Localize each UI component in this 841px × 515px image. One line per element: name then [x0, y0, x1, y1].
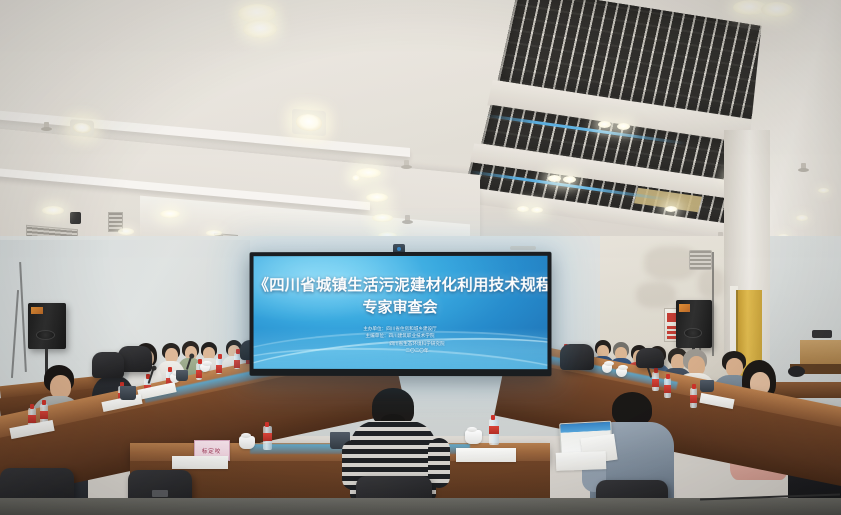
bottle-label — [690, 395, 697, 403]
wall-stain — [698, 268, 724, 298]
cabinet-cable-coil — [788, 366, 805, 377]
arm-right — [428, 438, 450, 488]
hair — [612, 392, 652, 426]
sprinkler-icon — [801, 163, 806, 171]
water-bottle[interactable] — [652, 372, 659, 391]
slide-subtitle: 专家审查会 — [254, 296, 548, 317]
screen-mount — [510, 246, 536, 250]
chair-left-row[interactable] — [92, 352, 124, 378]
ceiling-downlight — [617, 123, 630, 130]
wall-cable — [712, 252, 714, 356]
sprinkler-icon — [405, 215, 410, 223]
ceiling-downlight — [352, 175, 360, 181]
bottle-label — [652, 379, 659, 387]
bottle-label — [40, 411, 48, 419]
slide-credits: 主办单位：四川省住房和城乡建设厅 主编单位：四川建筑职业技术学院 四川省生态环境… — [254, 325, 548, 354]
loudspeaker-right — [676, 300, 712, 348]
bottle-label — [196, 370, 202, 378]
ceiling-downlight — [372, 214, 393, 222]
water-bottle[interactable] — [263, 426, 272, 450]
desk-organizer — [120, 386, 136, 400]
ceiling-light — [243, 20, 277, 38]
conference-room-photo: 标定咬 《四川省城镇生活 — [0, 0, 841, 515]
ceiling-downlight — [665, 206, 677, 212]
chair-tag — [152, 490, 168, 497]
speaker-badge-icon — [31, 307, 43, 314]
bottle-label — [234, 360, 240, 368]
bottle-label — [489, 426, 499, 434]
loudspeaker-left — [28, 303, 66, 349]
ceiling-light — [761, 2, 793, 17]
bottle-label — [28, 415, 36, 423]
ceiling-downlight — [818, 188, 829, 193]
ceiling-downlight — [366, 193, 388, 202]
ceiling-downlight — [531, 207, 543, 213]
ceiling-projector — [70, 212, 81, 224]
ceiling-downlight — [42, 206, 64, 215]
document-paper[interactable] — [456, 448, 516, 462]
speaker-cone-icon — [684, 328, 702, 339]
slide-credit-line: 主办单位：四川省住房和城乡建设厅 — [254, 325, 548, 332]
water-bottle[interactable] — [690, 388, 697, 408]
wall-air-vent-icon — [689, 250, 712, 270]
ceiling-downlight — [598, 121, 611, 128]
slide-credit-line: 二〇二〇年 — [254, 347, 548, 355]
ceiling-downlight — [517, 206, 529, 212]
bottle-label — [216, 365, 222, 373]
ceiling-downlight — [118, 228, 134, 235]
projection-screen: 《四川省城镇生活污泥建材化利用技术规程》 专家审查会 主办单位：四川省住房和城乡… — [250, 252, 552, 376]
document-stack[interactable] — [556, 451, 607, 471]
floor — [0, 498, 841, 515]
tea-cup[interactable] — [465, 430, 482, 444]
cabinet-equipment — [812, 330, 832, 338]
ceiling-downlight — [160, 210, 180, 218]
document-paper[interactable] — [172, 456, 228, 469]
ceiling-downlight — [796, 215, 808, 221]
sprinkler-icon — [44, 122, 49, 130]
bottle-label — [664, 385, 671, 393]
water-bottle[interactable] — [216, 358, 222, 374]
desk-organizer — [176, 370, 188, 381]
name-card-text: 标定咬 — [202, 446, 221, 454]
desk-organizer — [700, 380, 714, 392]
projection-screen-content: 《四川省城镇生活污泥建材化利用技术规程》 专家审查会 主办单位：四川省住房和城乡… — [254, 256, 548, 369]
wall-stain — [636, 282, 676, 308]
speaker-cone-icon — [36, 330, 55, 340]
tea-cup[interactable] — [239, 436, 255, 449]
chair-right-row[interactable] — [636, 348, 664, 368]
sprinkler-icon — [404, 160, 409, 168]
ceiling-light-square — [292, 109, 326, 136]
chair-right-row[interactable] — [560, 344, 594, 370]
bottle-label — [263, 433, 272, 441]
ceiling-light-square — [70, 119, 94, 137]
water-bottle[interactable] — [664, 378, 671, 398]
slide-title: 《四川省城镇生活污泥建材化利用技术规程》 — [254, 273, 548, 295]
water-bottle[interactable] — [489, 419, 499, 445]
ceiling-downlight — [548, 175, 561, 182]
speaker-badge-icon — [679, 304, 691, 312]
ceiling-downlight — [563, 176, 576, 183]
